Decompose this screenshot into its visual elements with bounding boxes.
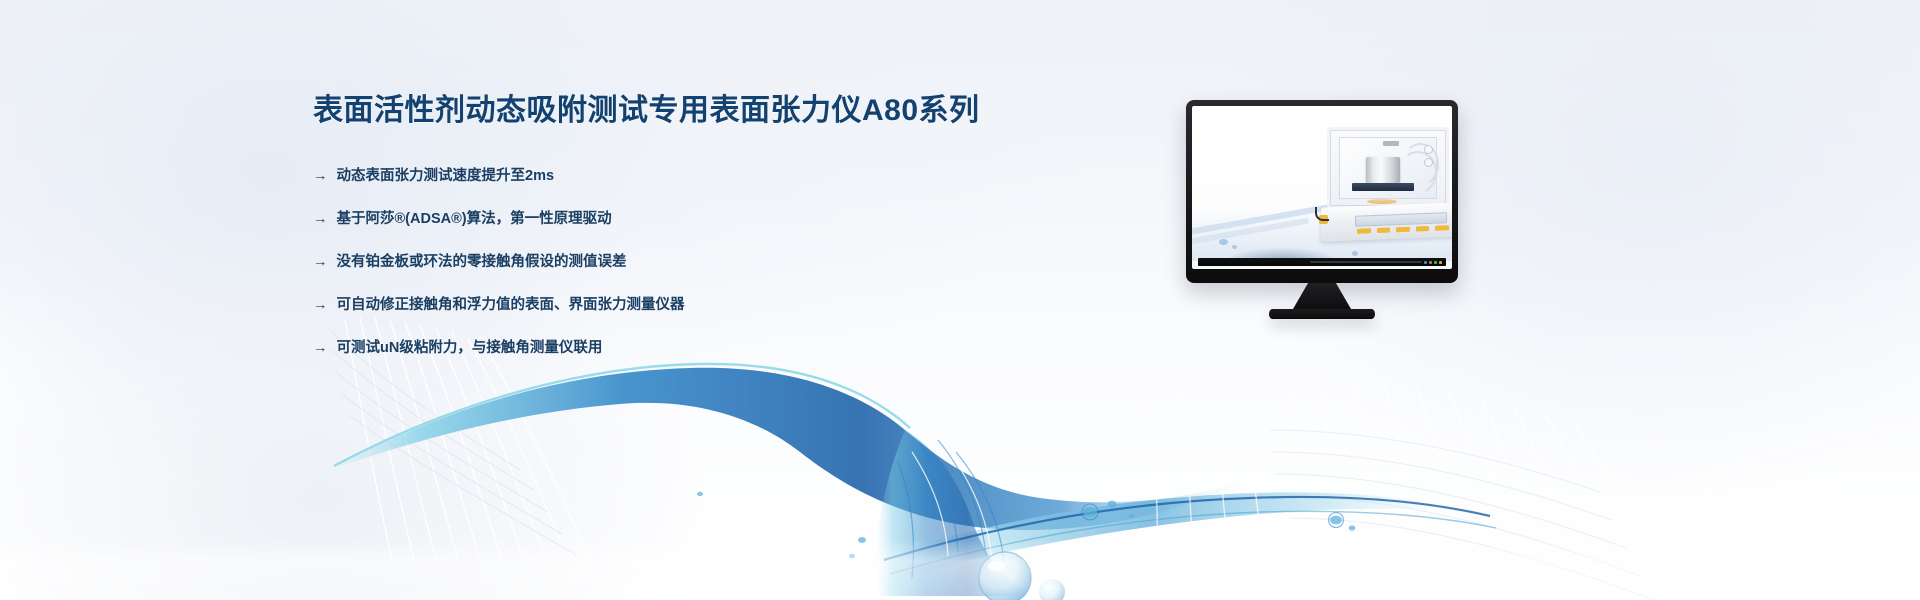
arrow-icon: → (313, 166, 328, 186)
page-title: 表面活性剂动态吸附测试专用表面张力仪A80系列 (313, 92, 1013, 130)
monitor-bezel (1186, 100, 1458, 283)
instrument-sample-cylinder (1366, 157, 1400, 183)
arrow-icon: → (313, 252, 328, 272)
feature-item-adhesion: → 可测试uN级粘附力，与接触角测量仪联用 (313, 338, 1013, 358)
screen-droplet (1232, 245, 1237, 249)
instrument-key (1357, 228, 1371, 234)
taskbar-text-strip (1310, 261, 1422, 263)
arrow-icon: → (313, 338, 328, 358)
feature-label: 没有铂金板或环法的零接触角假设的测值误差 (337, 252, 627, 272)
screen-droplet (1352, 251, 1358, 256)
feature-item-speed: → 动态表面张力测试速度提升至2ms (313, 166, 1013, 186)
monitor-stand-neck (1293, 283, 1351, 309)
instrument-label (1383, 141, 1399, 146)
taskbar-indicator (1439, 261, 1442, 264)
instrument-key (1416, 226, 1430, 232)
taskbar-indicator (1424, 261, 1427, 264)
monitor-screen (1192, 106, 1452, 269)
instrument-key (1396, 227, 1410, 233)
feature-label: 可测试uN级粘附力，与接触角测量仪联用 (337, 338, 603, 358)
feature-item-adsa: → 基于阿莎®(ADSA®)算法，第一性原理驱动 (313, 209, 1013, 229)
taskbar-indicator (1429, 261, 1432, 264)
screen-taskbar (1198, 258, 1446, 266)
instrument-cable (1315, 207, 1329, 221)
taskbar-indicator (1434, 261, 1437, 264)
feature-list: → 动态表面张力测试速度提升至2ms → 基于阿莎®(ADSA®)算法，第一性原… (313, 166, 1013, 358)
hero-banner: 表面活性剂动态吸附测试专用表面张力仪A80系列 → 动态表面张力测试速度提升至2… (0, 0, 1920, 600)
arrow-icon: → (313, 209, 328, 229)
screen-droplet (1219, 239, 1228, 245)
feature-item-correction: → 可自动修正接触角和浮力值的表面、界面张力测量仪器 (313, 295, 1013, 315)
feature-item-error: → 没有铂金板或环法的零接触角假设的测值误差 (313, 252, 1013, 272)
banner-content: 表面活性剂动态吸附测试专用表面张力仪A80系列 → 动态表面张力测试速度提升至2… (313, 92, 1013, 358)
monitor-stand-base (1269, 309, 1375, 319)
instrument-stage-plate (1352, 183, 1414, 191)
feature-label: 可自动修正接触角和浮力值的表面、界面张力测量仪器 (337, 295, 685, 315)
instrument-key (1377, 228, 1391, 234)
feature-label: 基于阿莎®(ADSA®)算法，第一性原理驱动 (337, 209, 612, 229)
surface-tension-instrument (1327, 127, 1449, 245)
desktop-monitor (1186, 100, 1458, 319)
instrument-key (1436, 225, 1450, 231)
arrow-icon: → (313, 295, 328, 315)
feature-label: 动态表面张力测试速度提升至2ms (337, 166, 555, 186)
